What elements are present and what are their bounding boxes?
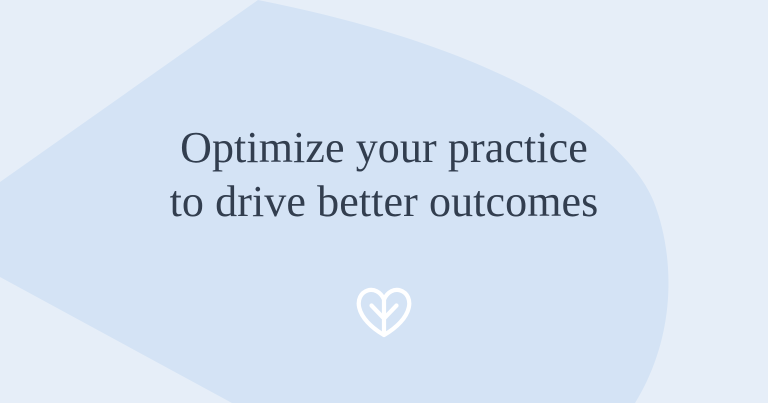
heart-leaf-logo-icon	[356, 286, 412, 338]
banner-content: Optimize your practice to drive better o…	[0, 0, 768, 403]
page-title: Optimize your practice to drive better o…	[170, 121, 599, 229]
promo-banner: Optimize your practice to drive better o…	[0, 0, 768, 403]
headline-line-2: to drive better outcomes	[170, 175, 599, 229]
headline-line-1: Optimize your practice	[170, 121, 599, 175]
